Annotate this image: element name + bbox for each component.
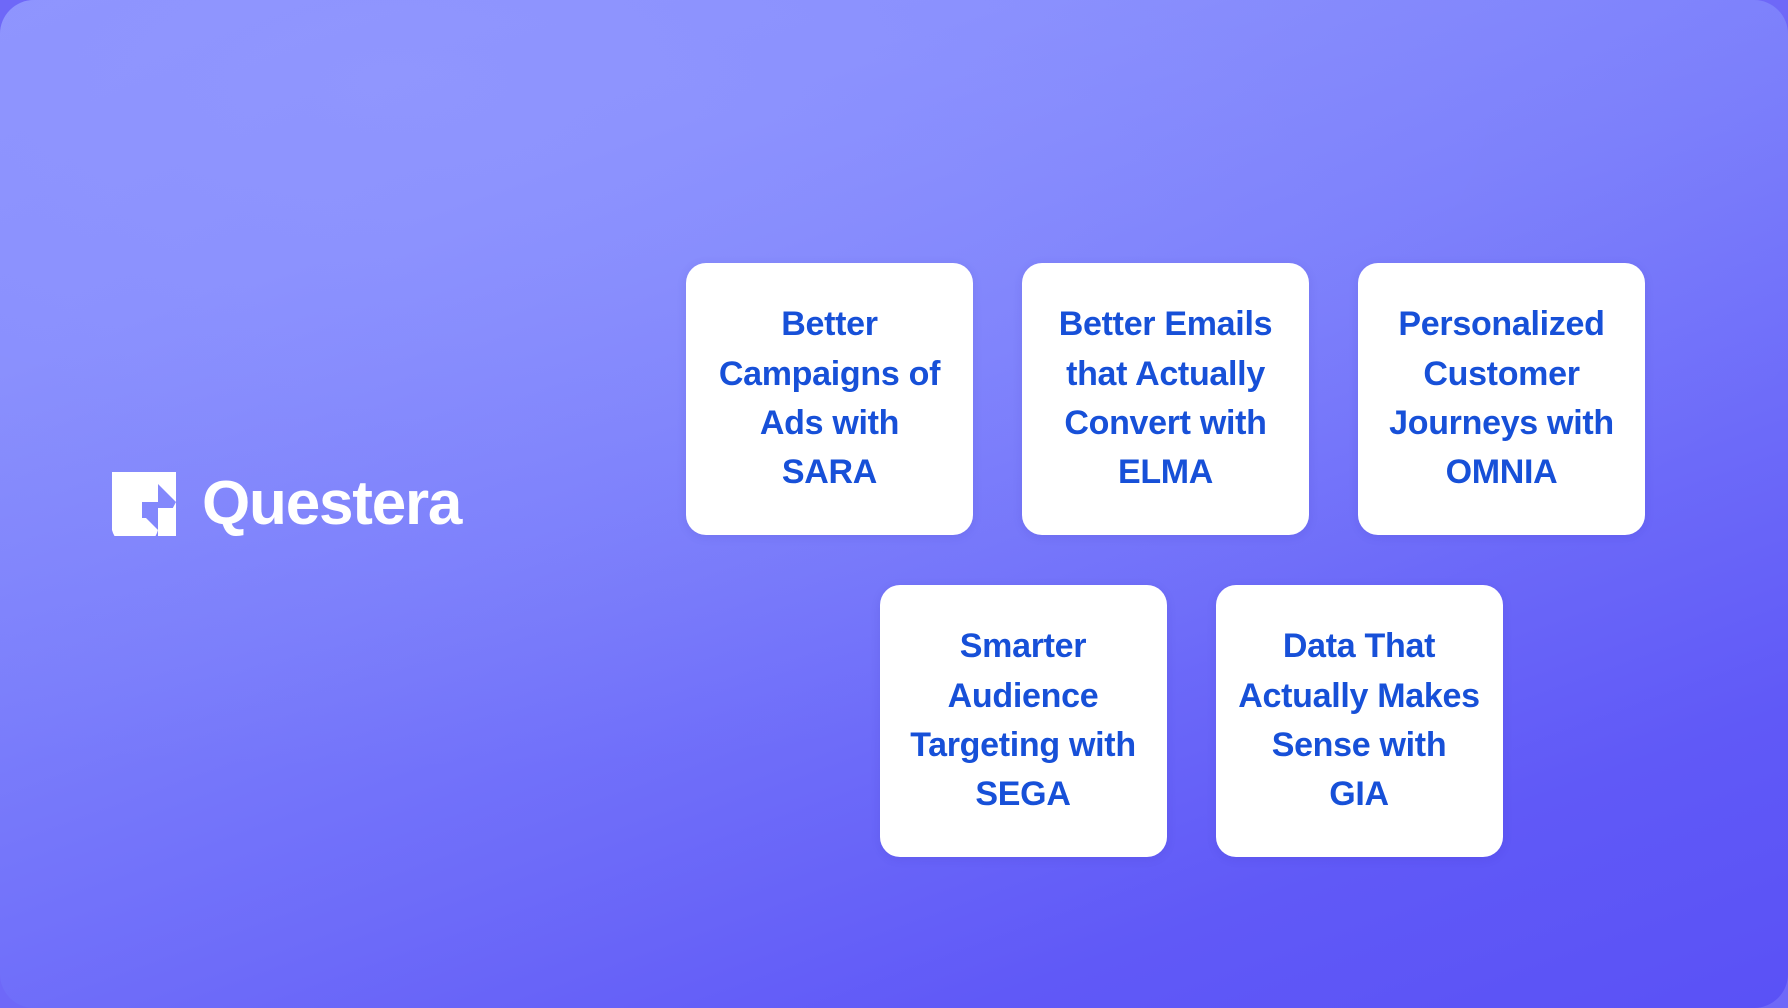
hero-banner: Questera Better Campaigns of Ads with SA… xyxy=(0,0,1788,1008)
feature-card-title: Smarter Audience Targeting with SEGA xyxy=(902,622,1145,819)
questera-mark-icon xyxy=(112,472,176,536)
brand-lockup[interactable]: Questera xyxy=(112,472,461,536)
feature-card-sara[interactable]: Better Campaigns of Ads with SARA xyxy=(686,263,973,535)
feature-card-title: Better Campaigns of Ads with SARA xyxy=(708,300,951,497)
feature-card-grid: Better Campaigns of Ads with SARA Better… xyxy=(686,263,1696,857)
feature-card-row-top: Better Campaigns of Ads with SARA Better… xyxy=(686,263,1696,535)
feature-card-gia[interactable]: Data That Actually Makes Sense with GIA xyxy=(1216,585,1503,857)
feature-card-title: Data That Actually Makes Sense with GIA xyxy=(1238,622,1481,819)
feature-card-elma[interactable]: Better Emails that Actually Convert with… xyxy=(1022,263,1309,535)
brand-name: Questera xyxy=(202,473,461,535)
feature-card-title: Personalized Customer Journeys with OMNI… xyxy=(1380,300,1623,497)
feature-card-title: Better Emails that Actually Convert with… xyxy=(1044,300,1287,497)
feature-card-sega[interactable]: Smarter Audience Targeting with SEGA xyxy=(880,585,1167,857)
feature-card-row-bottom: Smarter Audience Targeting with SEGA Dat… xyxy=(686,585,1696,857)
banner-content: Questera Better Campaigns of Ads with SA… xyxy=(0,0,1788,1008)
feature-card-omnia[interactable]: Personalized Customer Journeys with OMNI… xyxy=(1358,263,1645,535)
